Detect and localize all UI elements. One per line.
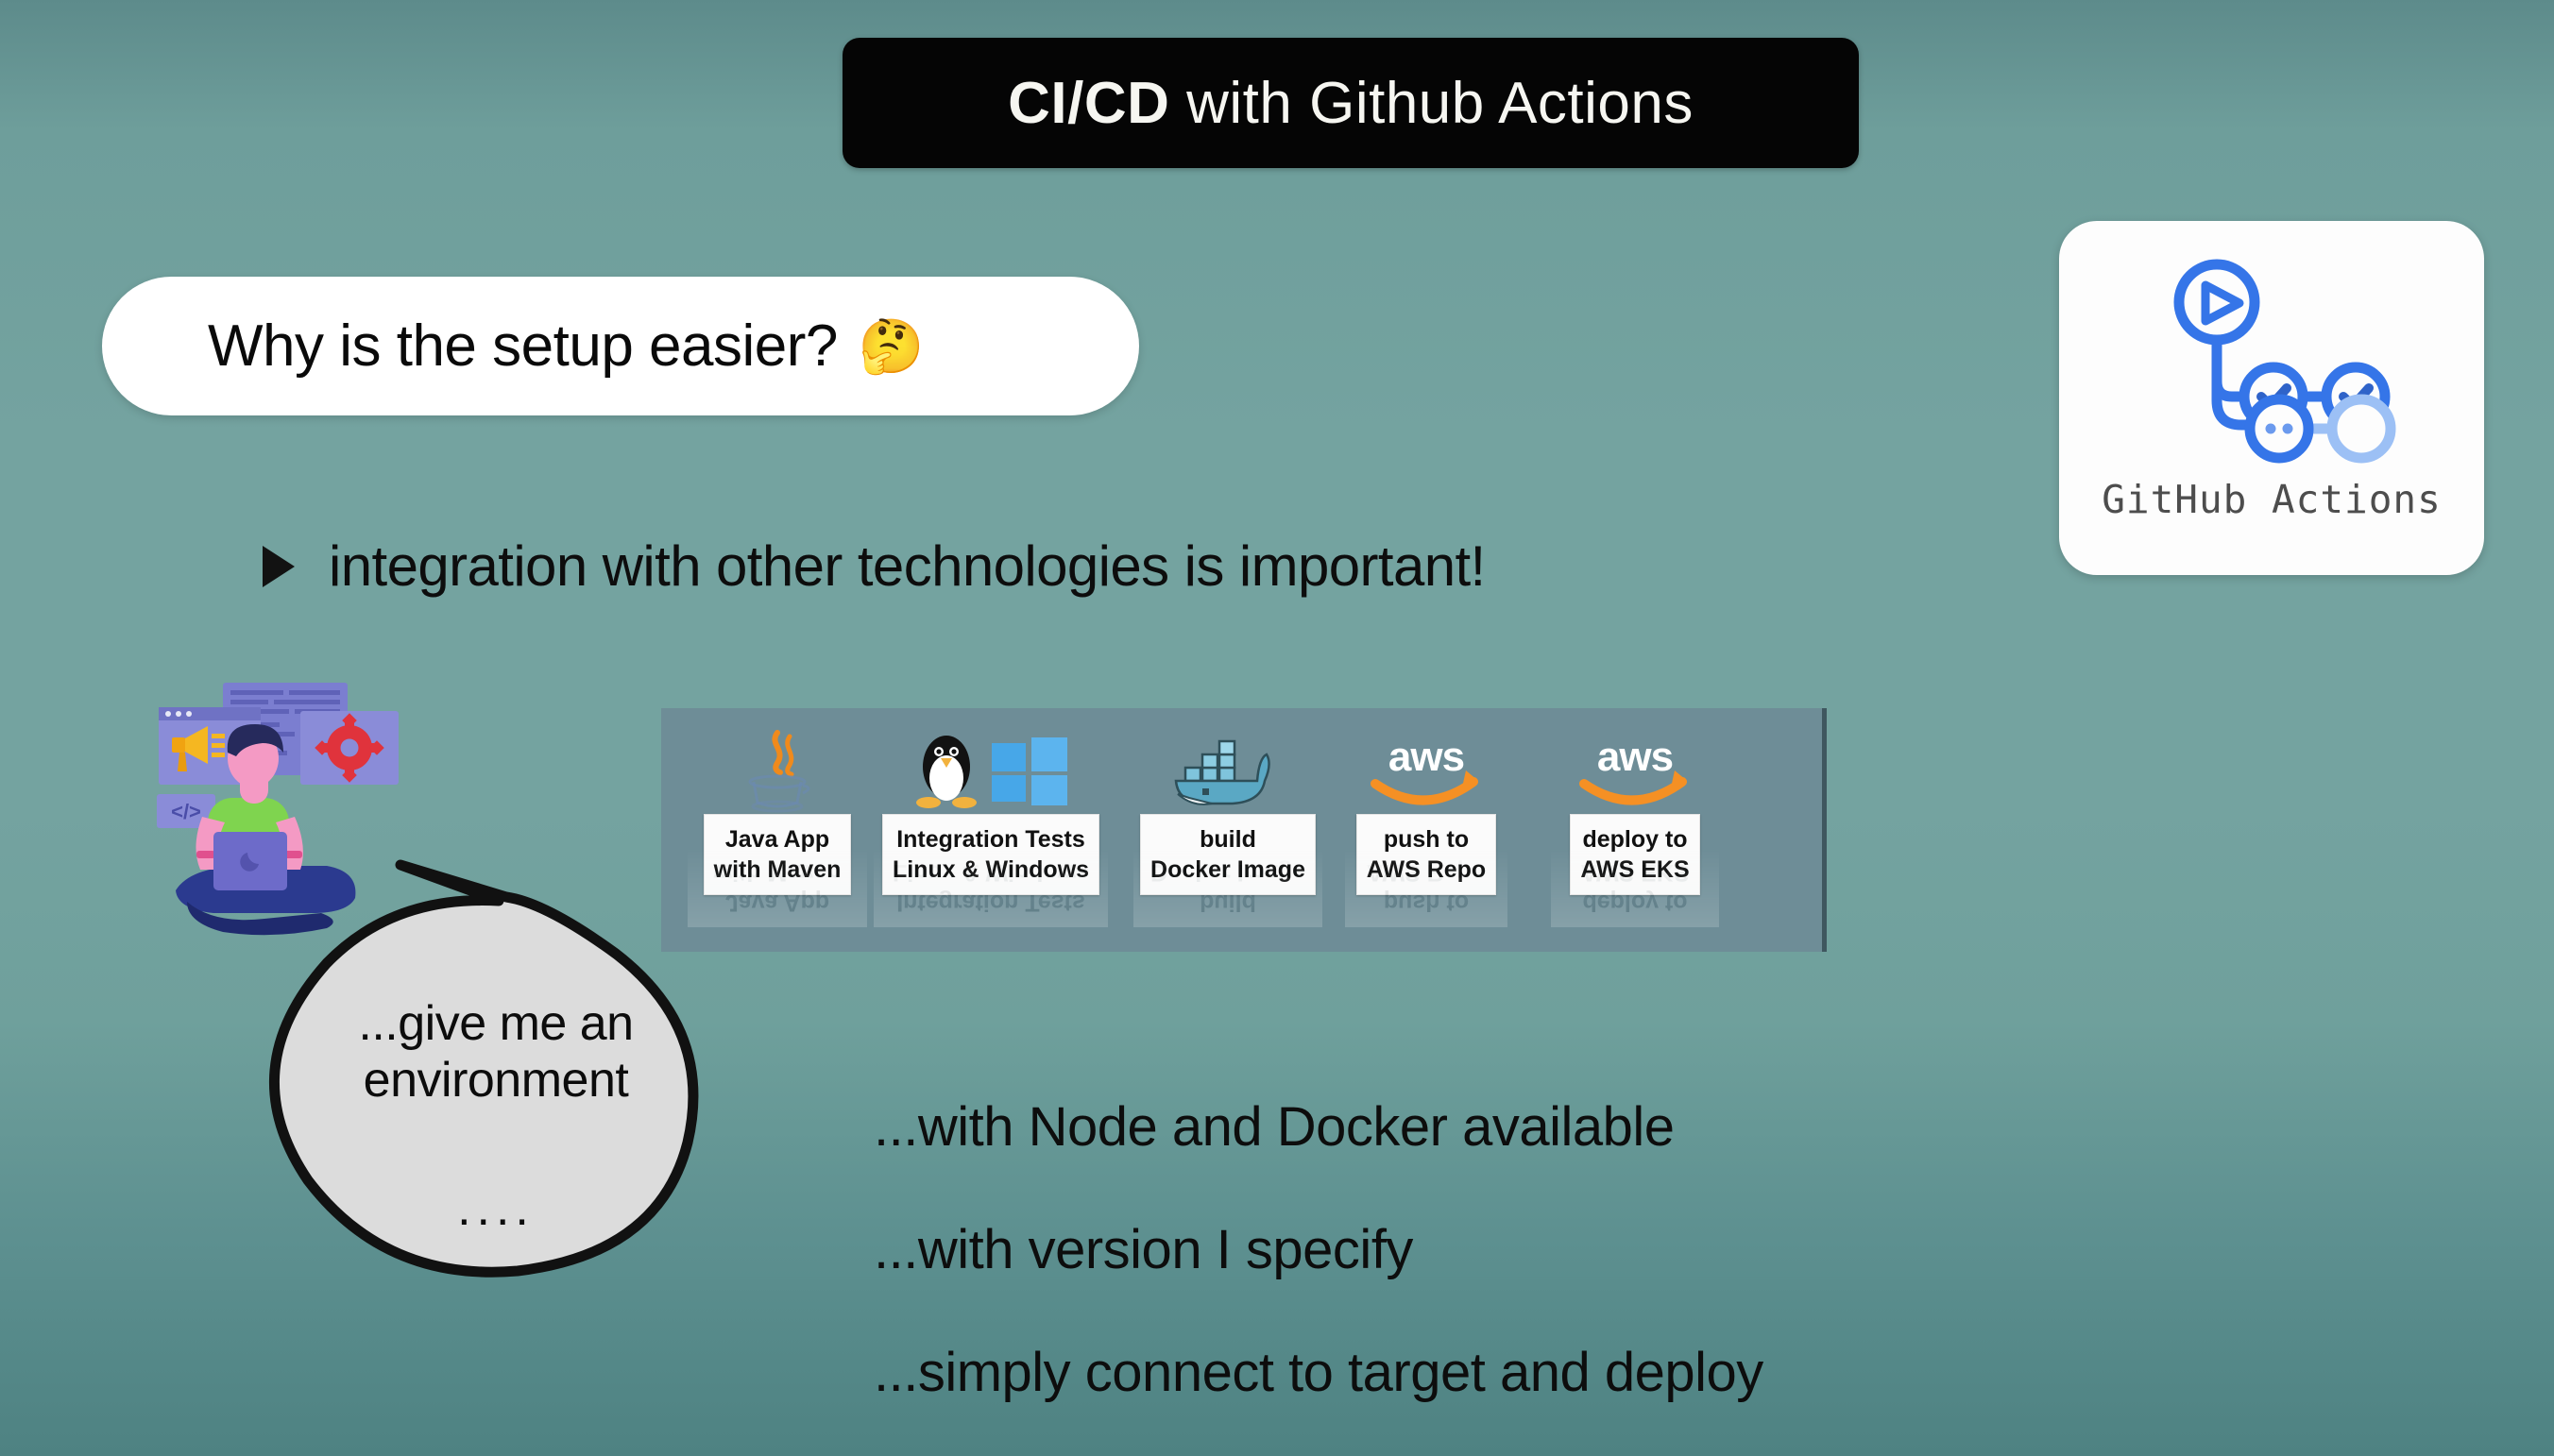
docker-whale-icon: [1166, 730, 1289, 811]
svg-text:aws: aws: [1388, 734, 1464, 780]
pipeline-panel: Java App with Maven Integration Tests Li…: [661, 708, 1827, 952]
slide-title-bar: CI/CD with Github Actions: [843, 38, 1859, 168]
pipeline-stage: aws deploy to AWS EKS: [1551, 727, 1719, 895]
stage-label: build Docker Image: [1140, 814, 1316, 895]
triangle-right-icon: [263, 546, 295, 587]
svg-text:</>: </>: [171, 800, 201, 823]
aws-icon: aws: [1360, 731, 1492, 810]
stage-label: push to AWS Repo: [1356, 814, 1496, 895]
stage-icons: [1166, 727, 1289, 814]
aws-icon: aws: [1569, 731, 1701, 810]
stage-icons: [735, 727, 820, 814]
question-bubble: Why is the setup easier? 🤔: [102, 277, 1139, 415]
svg-text:aws: aws: [1597, 734, 1673, 780]
bullet-line: ...simply connect to target and deploy: [874, 1341, 1763, 1404]
stage-label: deploy to AWS EKS: [1570, 814, 1699, 895]
bullet-line: ...with Node and Docker available: [874, 1095, 1675, 1159]
page-title: CI/CD with Github Actions: [1008, 70, 1694, 137]
headline-row: integration with other technologies is i…: [263, 533, 1486, 599]
stage-icons: aws: [1360, 727, 1492, 814]
speech-bubble-text: ...give me an environment: [274, 996, 718, 1109]
page-title-rest: with Github Actions: [1169, 71, 1694, 136]
thinking-face-icon: 🤔: [859, 320, 925, 373]
question-text: Why is the setup easier?: [208, 313, 838, 380]
pipeline-stage: Integration Tests Linux & Windows: [874, 727, 1108, 895]
stage-icons: [912, 727, 1069, 814]
github-actions-label: GitHub Actions: [2102, 477, 2442, 522]
bullet-line: ...with version I specify: [874, 1218, 1413, 1281]
windows-icon: [988, 732, 1069, 809]
page-title-strong: CI/CD: [1008, 71, 1169, 136]
java-icon: [735, 727, 820, 814]
pipeline-stage: aws push to AWS Repo: [1345, 727, 1507, 895]
pipeline-stage: build Docker Image: [1133, 727, 1322, 895]
github-actions-workflow-icon: [2130, 249, 2413, 471]
linux-tux-icon: [912, 729, 980, 812]
stage-label: Integration Tests Linux & Windows: [882, 814, 1099, 895]
speech-bubble-dots: ....: [274, 1180, 718, 1237]
headline-text: integration with other technologies is i…: [329, 533, 1486, 599]
stage-icons: aws: [1569, 727, 1701, 814]
github-actions-card: GitHub Actions: [2059, 221, 2484, 575]
